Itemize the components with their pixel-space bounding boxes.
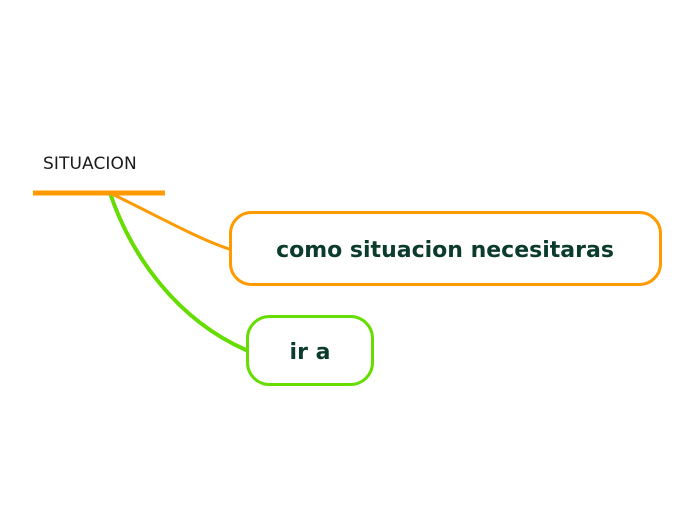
node-label-como-situacion-necesitaras[interactable]: como situacion necesitaras bbox=[276, 238, 614, 263]
connector-green-ir-a[interactable] bbox=[110, 193, 246, 350]
node-label-ir-a[interactable]: ir a bbox=[290, 340, 331, 365]
mindmap-canvas: SITUACION como situacion necesitaras ir … bbox=[0, 0, 696, 520]
mindmap-svg: SITUACION como situacion necesitaras ir … bbox=[0, 0, 696, 520]
root-node-label[interactable]: SITUACION bbox=[43, 154, 137, 174]
